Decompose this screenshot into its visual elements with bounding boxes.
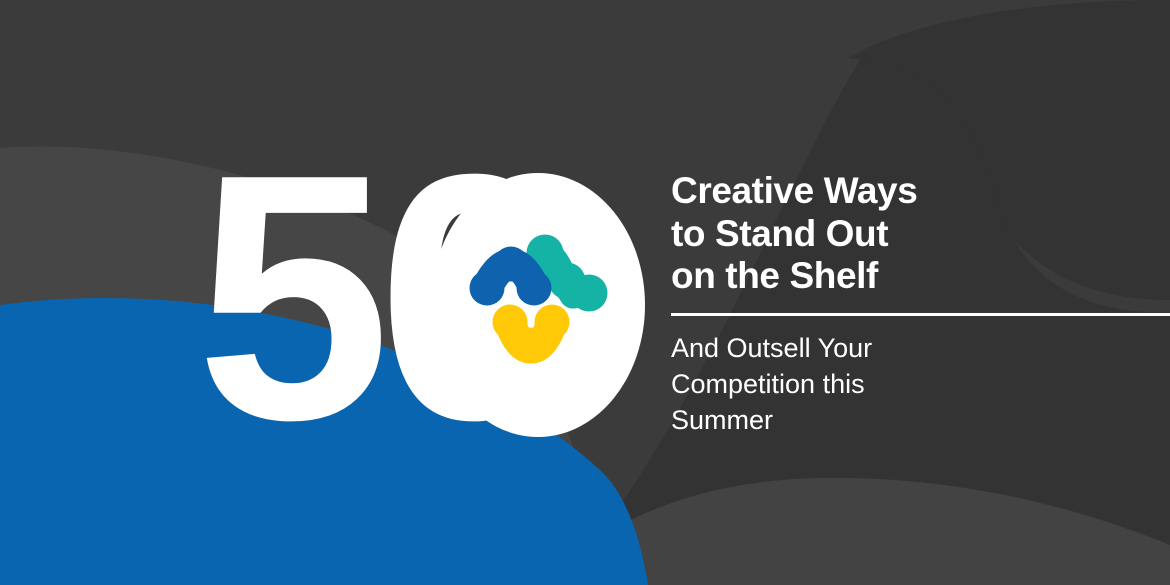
title-line-3: on the Shelf xyxy=(671,255,1161,298)
subtitle-line-1: And Outsell Your xyxy=(671,330,971,366)
headline-block: Creative Ways to Stand Out on the Shelf xyxy=(671,170,1161,298)
title-divider-rule xyxy=(671,313,1170,316)
title-line-1: Creative Ways xyxy=(671,170,1161,213)
subtitle-line-3: Summer xyxy=(671,402,971,438)
title-line-2: to Stand Out xyxy=(671,213,1161,256)
page-subtitle: And Outsell Your Competition this Summer xyxy=(671,330,971,438)
poster-canvas: 50 Creative Ways xyxy=(0,0,1170,585)
subtitle-line-2: Competition this xyxy=(671,366,971,402)
page-title: Creative Ways to Stand Out on the Shelf xyxy=(671,170,1161,298)
